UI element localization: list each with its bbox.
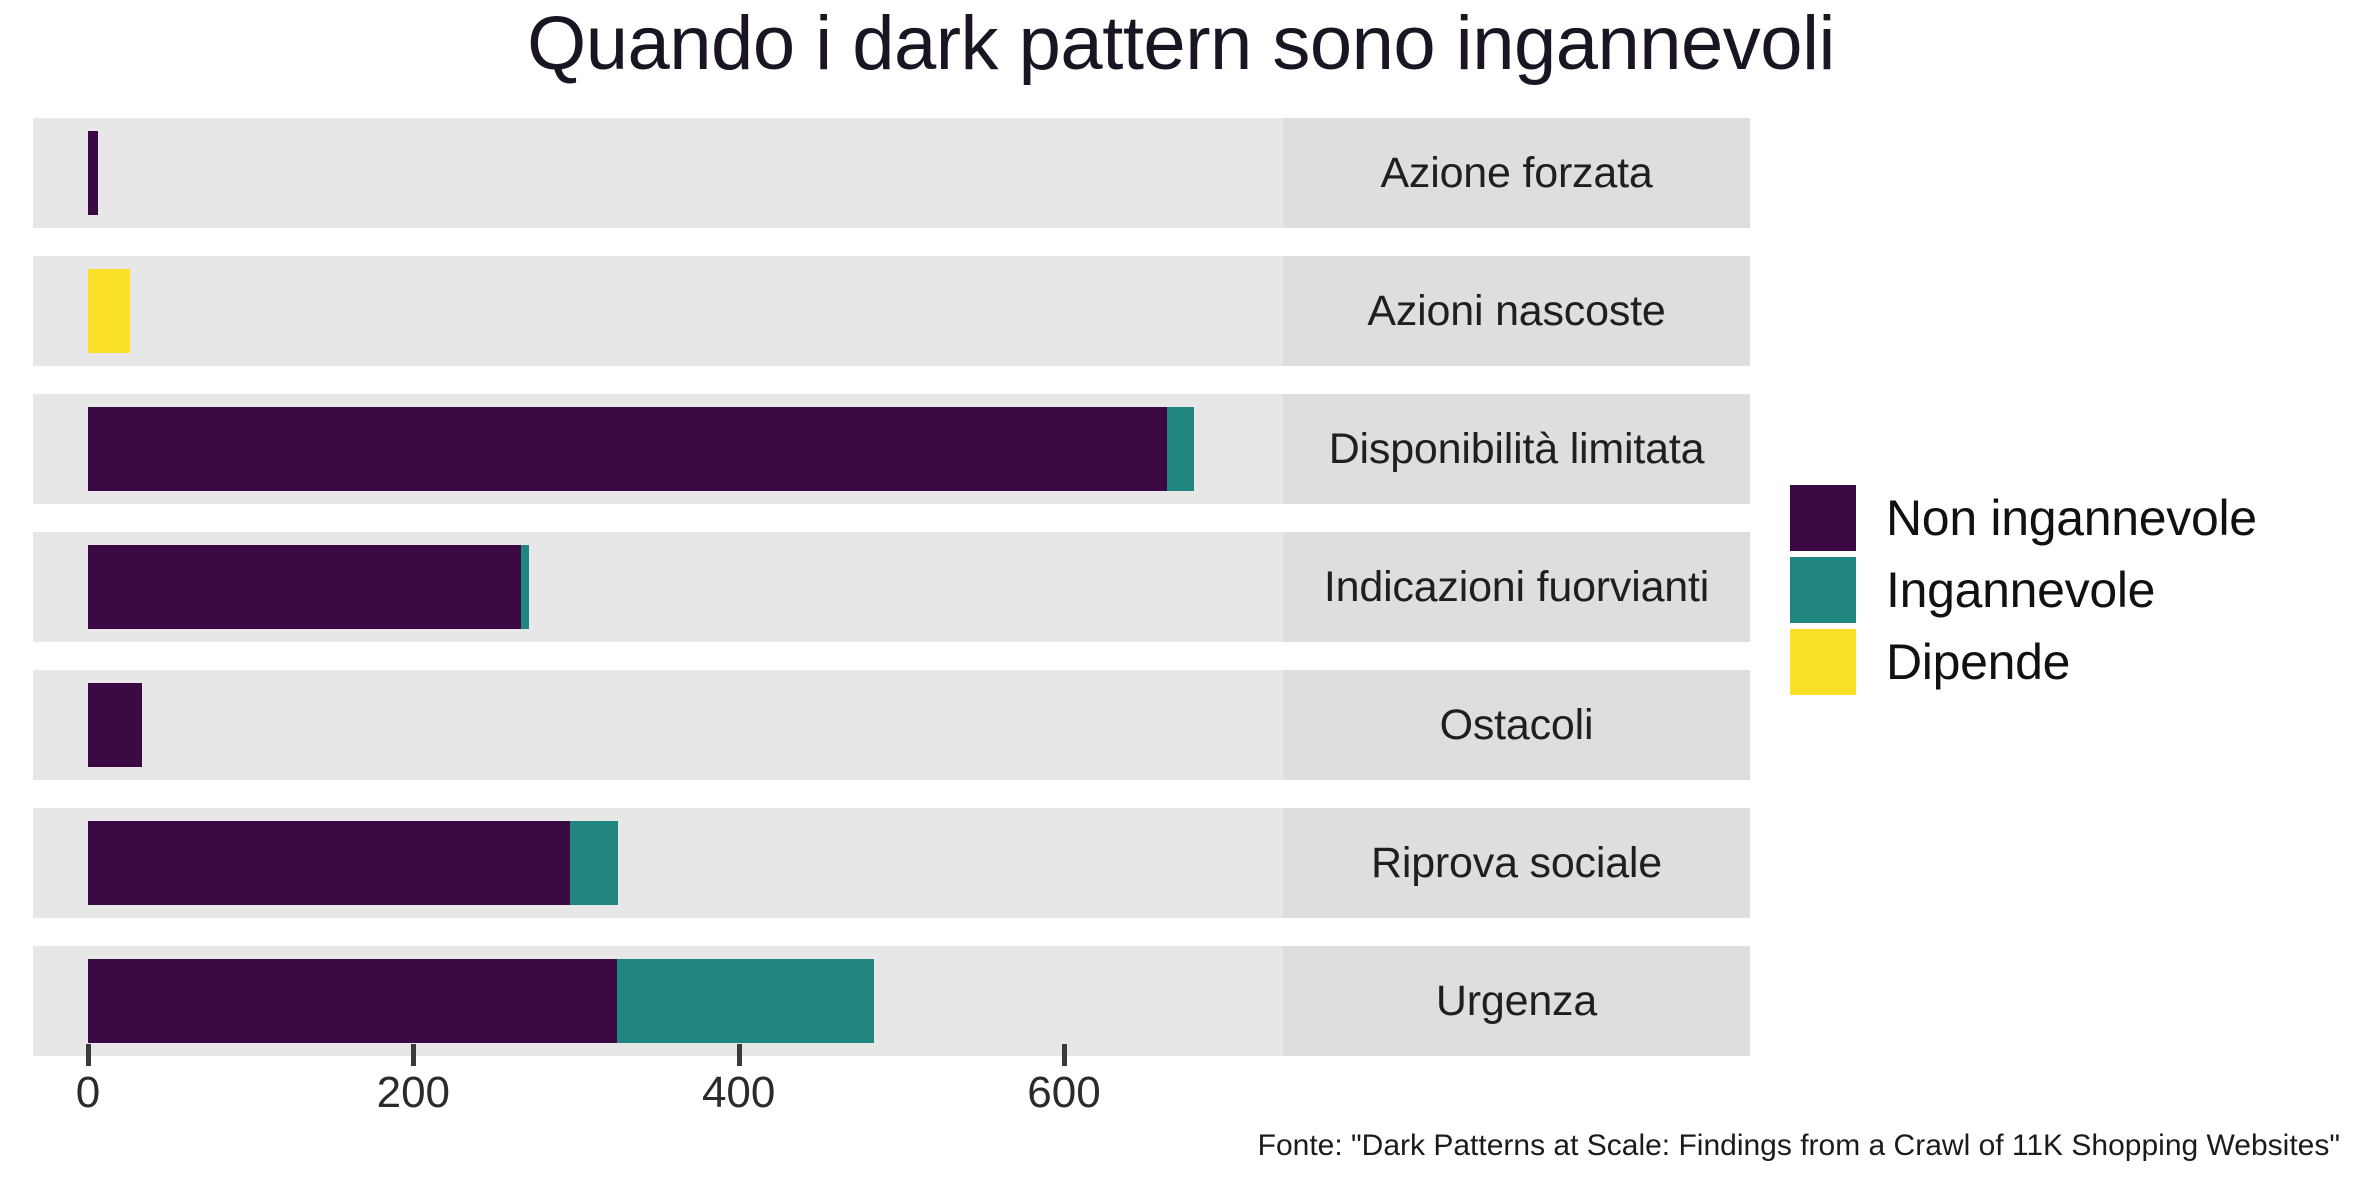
bar-segment[interactable] bbox=[88, 821, 570, 905]
chart-row: Azione forzata bbox=[33, 118, 1750, 228]
category-label: Urgenza bbox=[1436, 977, 1597, 1026]
axis-tick-label: 600 bbox=[1027, 1068, 1100, 1118]
category-label: Disponibilità limitata bbox=[1329, 425, 1705, 474]
plot-area: Azione forzataAzioni nascosteDisponibili… bbox=[33, 118, 1750, 1038]
category-label: Ostacoli bbox=[1440, 701, 1594, 750]
legend-swatch-icon bbox=[1790, 485, 1856, 551]
axis-tick-label: 0 bbox=[76, 1068, 100, 1118]
legend-swatch-icon bbox=[1790, 557, 1856, 623]
source-note: Fonte: "Dark Patterns at Scale: Findings… bbox=[1258, 1129, 2340, 1163]
bar-segment[interactable] bbox=[88, 545, 521, 629]
legend-label: Dipende bbox=[1886, 633, 2070, 691]
category-label: Riprova sociale bbox=[1371, 839, 1662, 888]
bar-segment[interactable] bbox=[570, 821, 619, 905]
category-label-zone: Indicazioni fuorvianti bbox=[1283, 532, 1750, 642]
bar-track bbox=[33, 131, 1283, 215]
legend-label: Ingannevole bbox=[1886, 561, 2155, 619]
legend-swatch-icon bbox=[1790, 629, 1856, 695]
axis-tick-mark bbox=[737, 1044, 742, 1066]
bar-track bbox=[33, 545, 1283, 629]
bar-segment[interactable] bbox=[88, 407, 1167, 491]
bar-track bbox=[33, 821, 1283, 905]
x-axis: 0200400600 bbox=[33, 1038, 1750, 1128]
category-label-zone: Azioni nascoste bbox=[1283, 256, 1750, 366]
legend-item[interactable]: Non ingannevole bbox=[1790, 482, 2350, 554]
category-label-zone: Ostacoli bbox=[1283, 670, 1750, 780]
category-label: Indicazioni fuorvianti bbox=[1324, 563, 1709, 612]
axis-tick-mark bbox=[411, 1044, 416, 1066]
bar-segment[interactable] bbox=[1167, 407, 1195, 491]
bar-track bbox=[33, 407, 1283, 491]
bar-track bbox=[33, 959, 1283, 1043]
bar-segment[interactable] bbox=[88, 269, 130, 353]
axis-tick-mark bbox=[1062, 1044, 1067, 1066]
axis-tick-label: 400 bbox=[702, 1068, 775, 1118]
bar-segment[interactable] bbox=[521, 545, 529, 629]
bar-track bbox=[33, 269, 1283, 353]
legend: Non ingannevoleIngannevoleDipende bbox=[1790, 482, 2350, 698]
page-title: Quando i dark pattern sono ingannevoli bbox=[0, 6, 2362, 82]
bar-segment[interactable] bbox=[88, 131, 98, 215]
category-label-zone: Riprova sociale bbox=[1283, 808, 1750, 918]
chart-row: Riprova sociale bbox=[33, 808, 1750, 918]
bar-track bbox=[33, 683, 1283, 767]
chart-row: Ostacoli bbox=[33, 670, 1750, 780]
chart-row: Disponibilità limitata bbox=[33, 394, 1750, 504]
category-label: Azione forzata bbox=[1380, 149, 1652, 198]
category-label-zone: Azione forzata bbox=[1283, 118, 1750, 228]
legend-item[interactable]: Ingannevole bbox=[1790, 554, 2350, 626]
axis-tick-label: 200 bbox=[377, 1068, 450, 1118]
category-label-zone: Disponibilità limitata bbox=[1283, 394, 1750, 504]
chart-row: Azioni nascoste bbox=[33, 256, 1750, 366]
category-label: Azioni nascoste bbox=[1367, 287, 1665, 336]
bar-segment[interactable] bbox=[617, 959, 874, 1043]
chart-row: Indicazioni fuorvianti bbox=[33, 532, 1750, 642]
bar-segment[interactable] bbox=[88, 683, 142, 767]
legend-label: Non ingannevole bbox=[1886, 489, 2257, 547]
legend-item[interactable]: Dipende bbox=[1790, 626, 2350, 698]
axis-tick-mark bbox=[86, 1044, 91, 1066]
bar-segment[interactable] bbox=[88, 959, 617, 1043]
